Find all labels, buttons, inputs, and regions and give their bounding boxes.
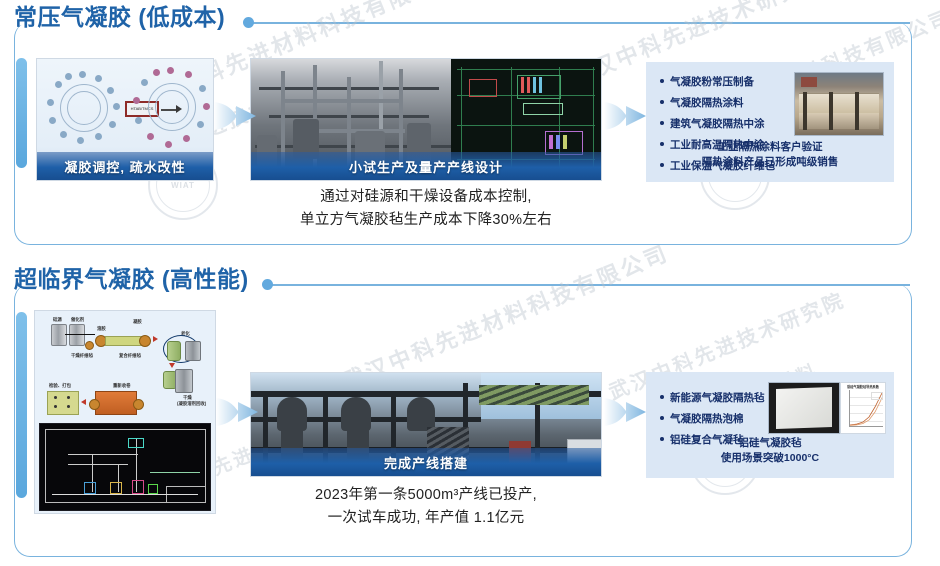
section-1-title-dot (243, 17, 254, 28)
cad-gridline (457, 125, 595, 126)
product-caption: 工业隔热涂料客户验证 隔热涂料产品已形成吨级销售 (646, 140, 894, 170)
section-2-accent-bar (16, 312, 27, 498)
strap (829, 92, 833, 130)
cad-component (556, 135, 560, 149)
aerogel-sheet (776, 387, 832, 429)
molecule-node-modified (153, 69, 160, 76)
box-grid (47, 391, 77, 413)
cad-pipeline (68, 454, 138, 455)
cad-symbol (128, 438, 144, 448)
box-dot (67, 396, 70, 399)
molecule-node (113, 103, 120, 110)
panel-production-line-caption: 完成产线搭建 (251, 448, 601, 476)
cad-symbol (148, 484, 158, 494)
list-item: 气凝胶隔热涂料 (660, 95, 775, 110)
cad-equipment (469, 79, 497, 97)
panel-production-line: 完成产线搭建 (250, 372, 602, 477)
molecule-node-modified (183, 135, 190, 142)
flow-arrow-4 (604, 394, 648, 430)
molecule-node-modified (185, 71, 192, 78)
flow-label: 硅源 (53, 317, 62, 323)
molecule-core (67, 91, 101, 125)
section-2-title-dot (262, 279, 273, 290)
molecule-node-modified (133, 97, 140, 104)
cad-component (539, 77, 542, 93)
cad-equipment (523, 103, 563, 115)
panel-process-flow-frame: 硅源 催化剂 溶胶 凝胶 干燥纤维毡 复合纤维毡 老化 干燥 (凝胶溶剂回收) … (34, 310, 216, 514)
reactor-vessel (277, 397, 307, 431)
molecule-node-modified (165, 141, 172, 148)
molecule-cluster-right (133, 67, 209, 149)
bullet-dot (660, 416, 664, 420)
flow-arrow-1 (214, 98, 258, 134)
flow-arrow-2 (604, 98, 648, 134)
flow-label: 检验、打包 (49, 383, 71, 389)
molecule-cluster-left (47, 71, 119, 145)
product-caption: 铝硅气凝胶毡 使用场景突破1000°C (646, 436, 894, 466)
summary-line-2: 单立方气凝胶毡生产成本下降30%左右 (250, 209, 602, 232)
reactor-vessel (341, 397, 371, 431)
dry-fiber-roller (85, 341, 94, 350)
molecule-node (199, 85, 206, 92)
panel-pilot-production-caption: 小试生产及量产产线设计 (251, 152, 601, 180)
section-atmospheric-aerogel: 常压气凝胶 (低成本) (0, 0, 940, 250)
molecule-node (95, 133, 102, 140)
flow-label: 复合纤维毡 (119, 353, 141, 359)
section-1-title: 常压气凝胶 (低成本) (14, 6, 225, 29)
chart-legend (871, 392, 883, 400)
aging-vessel (167, 341, 181, 361)
molecule-node-modified (167, 67, 174, 74)
summary-line-2: 一次试车成功, 年产值 1.1亿元 (250, 507, 602, 530)
section-2-summary: 2023年第一条5000m³产线已投产, 一次试车成功, 年产值 1.1亿元 (250, 484, 602, 530)
process-flow-diagram: 硅源 催化剂 溶胶 凝胶 干燥纤维毡 复合纤维毡 老化 干燥 (凝胶溶剂回收) … (35, 311, 215, 421)
section-supercritical-aerogel: 超临界气凝胶 (高性能) 硅源 催化剂 溶胶 凝胶 干燥纤维毡 复合纤维毡 老化… (0, 262, 940, 562)
staircase (479, 385, 589, 405)
flow-label: 凝胶 (133, 319, 142, 325)
cad-symbol (84, 482, 96, 494)
molecule-node (77, 137, 84, 144)
panel-production-line-frame: 完成产线搭建 (250, 372, 602, 477)
product-caption-line2: 隔热涂料产品已形成吨级销售 (646, 155, 894, 170)
photo-detail (801, 77, 817, 87)
flow-label: 溶胶 (97, 326, 106, 332)
molecule-node (79, 71, 86, 78)
molecule-node (107, 87, 114, 94)
summary-line-1: 2023年第一条5000m³产线已投产, (250, 484, 602, 507)
section-1-accent-bar (16, 58, 27, 168)
molecule-node (47, 99, 54, 106)
molecule-node (65, 73, 72, 80)
catalyst-tank (69, 324, 85, 346)
molecule-node (109, 121, 116, 128)
strap (855, 92, 859, 130)
cad-symbol (132, 480, 144, 494)
molecule-node (60, 131, 67, 138)
cad-pipeline (150, 472, 200, 473)
product-photo-aerogel-blanket (768, 382, 840, 434)
cad-border (45, 429, 46, 503)
summary-line-1: 通过对硅源和干燥设备成本控制, (250, 186, 602, 209)
list-item: 新能源气凝胶隔热毡 (660, 390, 765, 405)
molecule-node (141, 79, 148, 86)
cad-component (549, 135, 553, 149)
panel-products-atmospheric: 气凝胶粉常压制备 气凝胶隔热涂料 建筑气凝胶隔热中涂 工业耐高温隔热中涂 工业保… (646, 62, 894, 182)
insulation-wrap (799, 113, 879, 129)
strap (803, 92, 807, 130)
flow-arrow-left (81, 399, 86, 405)
list-item: 气凝胶隔热泡棉 (660, 411, 765, 426)
panel-gel-modification: HTAB/TMCS (36, 58, 214, 181)
panel-gel-modification-caption: 凝胶调控, 疏水改性 (37, 152, 213, 180)
chart-curves (841, 383, 883, 433)
drying-drum (175, 369, 193, 393)
cad-symbol (110, 482, 122, 494)
panel-process-flow: 硅源 催化剂 溶胶 凝胶 干燥纤维毡 复合纤维毡 老化 干燥 (凝胶溶剂回收) … (34, 310, 216, 514)
molecule-node (135, 117, 142, 124)
panel-pilot-production: 小试生产及量产产线设计 (250, 58, 602, 181)
panel-pilot-production-frame: 小试生产及量产产线设计 (250, 58, 602, 181)
molecule-node-modified (147, 133, 154, 140)
slide-root: 武汉中科先进材料科技有限公司 武汉中科先进技术研究院 武汉中科先进材料科技有限公… (0, 0, 940, 566)
box-dot (67, 405, 70, 408)
fiber-belt (105, 336, 143, 346)
section-1-summary: 通过对硅源和干燥设备成本控制, 单立方气凝胶毡生产成本下降30%左右 (250, 186, 602, 232)
composite-roller (139, 335, 151, 347)
molecule-node (55, 81, 62, 88)
flow-arrow-down (169, 363, 175, 368)
molecule-node (95, 75, 102, 82)
flow-label: 重新收卷 (113, 383, 131, 389)
cad-border (45, 429, 205, 430)
solvent-drum (185, 341, 201, 361)
cad-layout-drawing (39, 423, 211, 511)
molecule-node-modified (203, 103, 210, 110)
flow-label: 催化剂 (71, 317, 84, 323)
molecule-core (155, 90, 189, 124)
product-caption-line1: 工业隔热涂料客户验证 (646, 140, 894, 155)
panel-gel-modification-frame: HTAB/TMCS (36, 58, 214, 181)
list-item: 建筑气凝胶隔热中涂 (660, 116, 775, 131)
product-caption-line2: 使用场景突破1000°C (646, 451, 894, 466)
rewind-roller (133, 399, 144, 410)
list-item: 气凝胶粉常压制备 (660, 74, 775, 89)
bullet-dot (660, 79, 664, 83)
bullet-dot (660, 121, 664, 125)
flow-label: (凝胶溶剂回收) (177, 401, 206, 407)
cad-component (563, 135, 567, 149)
insulation-wrap (799, 93, 879, 115)
bullet-label: 气凝胶隔热涂料 (670, 95, 744, 110)
bullet-label: 新能源气凝胶隔热毡 (670, 390, 765, 405)
bullet-label: 气凝胶隔热泡棉 (670, 411, 744, 426)
plant-pipe (281, 99, 401, 103)
bullet-label: 气凝胶粉常压制备 (670, 74, 754, 89)
flow-arrow-3 (216, 394, 260, 430)
cad-component (521, 77, 524, 93)
product-photo-coating (794, 72, 884, 136)
flow-connector (65, 334, 95, 335)
panel-products-supercritical: 新能源气凝胶隔热毡 气凝胶隔热泡棉 铝硅复合气凝毡 铝硅气凝胶毡导热系数 (646, 372, 894, 478)
cad-gridline (457, 69, 595, 70)
cad-component (533, 77, 536, 93)
cad-component (527, 77, 530, 93)
bullet-dot (660, 395, 664, 399)
section-2-title: 超临界气凝胶 (高性能) (14, 268, 249, 291)
box-dot (54, 405, 57, 408)
reactor-vessel (407, 397, 435, 431)
cad-groundline (52, 494, 198, 495)
cad-pipeline (68, 464, 128, 465)
product-caption-line1: 铝硅气凝胶毡 (646, 436, 894, 451)
bullet-label: 建筑气凝胶隔热中涂 (670, 116, 765, 131)
box-dot (54, 396, 57, 399)
thermal-conductivity-chart: 铝硅气凝胶毡导热系数 (840, 382, 886, 434)
molecule-node (197, 121, 204, 128)
flow-arrow-head (153, 336, 158, 342)
flow-label: 干燥纤维毡 (71, 353, 93, 359)
rewind-roller (89, 399, 100, 410)
molecule-node (49, 117, 56, 124)
rewinding-roll (95, 391, 137, 415)
silicon-source-tank (51, 324, 67, 346)
bullet-dot (660, 100, 664, 104)
